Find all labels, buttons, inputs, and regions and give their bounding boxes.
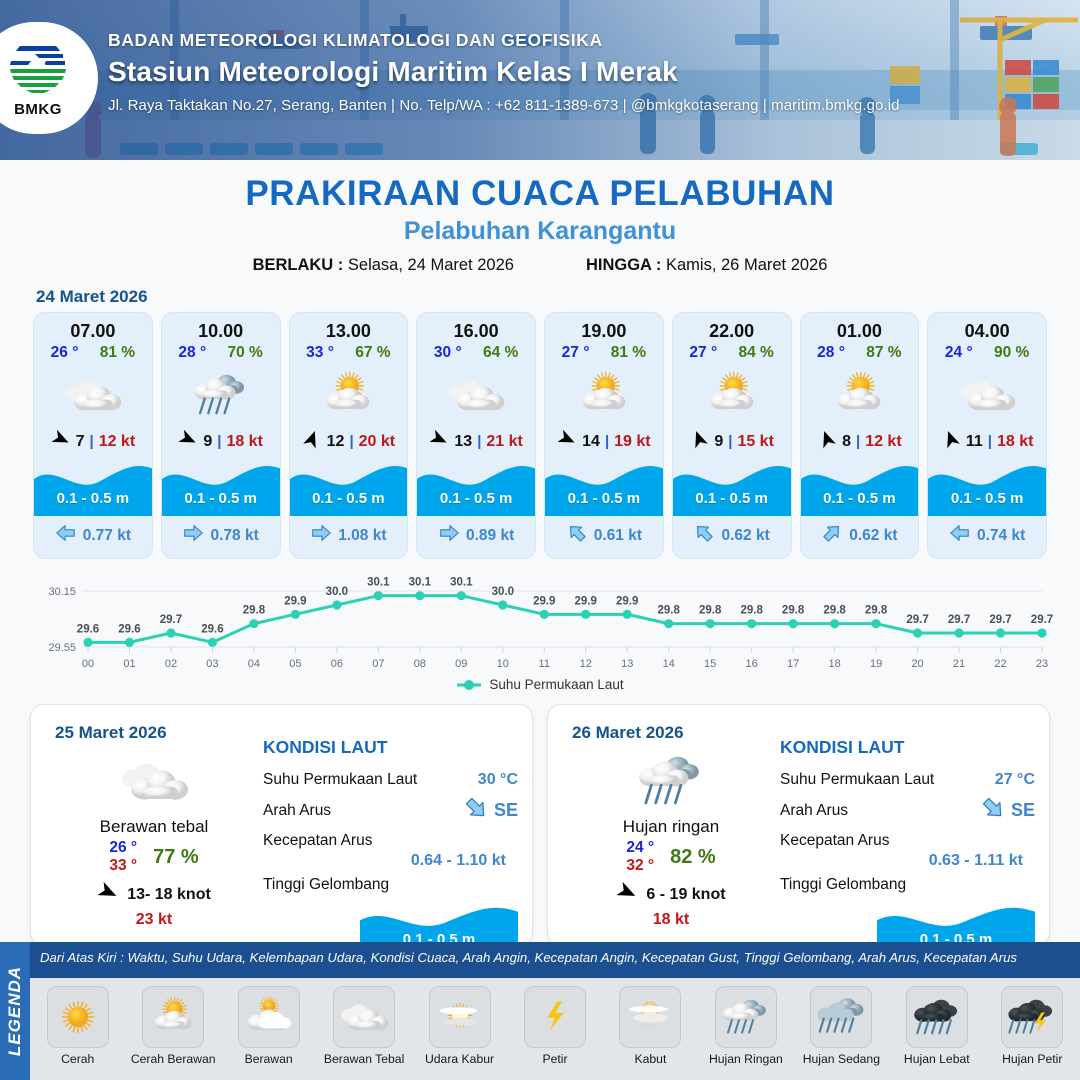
card-current-speed: 0.89 kt: [466, 527, 514, 545]
svg-text:29.9: 29.9: [533, 595, 555, 607]
forecast-card-row: 07.00 26 ° 81 % 7 | 12: [0, 312, 1080, 559]
card-wave-height: 0.1 - 0.5 m: [417, 490, 535, 507]
sst-row: Suhu Permukaan Laut 27 °C: [780, 765, 1035, 795]
udara-kabur-icon: [429, 986, 491, 1048]
card-gust: 12 kt: [99, 433, 135, 451]
panel-wind-speed: 6 - 19 knot: [646, 886, 725, 904]
svg-text:29.7: 29.7: [948, 614, 970, 626]
page-header: BMKG BADAN METEOROLOGI KLIMATOLOGI DAN G…: [0, 0, 1080, 160]
card-humidity: 64 %: [483, 344, 518, 362]
legend-item-label: Cerah Berawan: [130, 1052, 216, 1066]
chart-legend-label: Suhu Permukaan Laut: [489, 677, 623, 692]
svg-text:07: 07: [372, 658, 384, 670]
current-direction-text: SE: [494, 800, 518, 821]
current-direction-row: Arah Arus SE: [263, 795, 518, 826]
card-temp-humidity: 26 ° 81 %: [34, 343, 152, 364]
daily-summary-row: 25 Maret 2026 Berawan tebal 26 °: [0, 698, 1080, 946]
svg-text:29.8: 29.8: [740, 605, 763, 617]
card-current-speed: 0.78 kt: [210, 527, 258, 545]
panel-temp-min: 24 °: [626, 839, 654, 857]
wind-separator: |: [89, 433, 93, 450]
card-time: 19.00: [545, 313, 663, 343]
validity-row: BERLAKU : Selasa, 24 Maret 2026 HINGGA :…: [0, 256, 1080, 275]
card-current-row: 0.62 kt: [801, 516, 919, 558]
wave-height-label: Tinggi Gelombang: [780, 876, 906, 894]
panel-wind-row: 13- 18 knot: [49, 881, 259, 908]
wind-direction-arrow-icon: [178, 429, 198, 454]
legend-item: Hujan Lebat: [894, 986, 980, 1066]
card-temp-humidity: 33 ° 67 %: [290, 343, 408, 364]
panel-left-block: Berawan tebal 26 ° 33 ° 77 % 13- 18 knot…: [49, 749, 259, 929]
current-direction-value: SE: [463, 795, 518, 826]
current-direction-arrow-icon: [566, 522, 588, 549]
card-gust: 21 kt: [486, 433, 522, 451]
legend-item: Udara Kabur: [417, 986, 503, 1066]
current-direction-arrow-icon: [438, 522, 460, 549]
card-current-row: 0.62 kt: [673, 516, 791, 558]
current-speed-value: 0.64 - 1.10 kt: [263, 852, 506, 870]
forecast-card: 13.00 33 ° 67 % 12 | 20 kt: [289, 312, 409, 559]
legend-item: Cerah Berawan: [130, 986, 216, 1066]
berawan-tebal-icon: [333, 986, 395, 1048]
legend-item: Berawan: [226, 986, 312, 1066]
legend-item-label: Hujan Ringan: [703, 1052, 789, 1066]
card-wind-row: 13 | 21 kt: [417, 426, 535, 460]
svg-text:30.1: 30.1: [367, 577, 390, 589]
valid-from: BERLAKU : Selasa, 24 Maret 2026: [253, 256, 514, 275]
card-wave: 0.1 - 0.5 m: [417, 460, 535, 516]
card-gust: 12 kt: [865, 433, 901, 451]
forecast-date-label: 24 Maret 2026: [36, 287, 1080, 307]
wind-separator: |: [856, 433, 860, 450]
legend-note: Dari Atas Kiri : Waktu, Suhu Udara, Kele…: [40, 950, 1072, 965]
svg-text:29.7: 29.7: [1031, 614, 1053, 626]
svg-text:05: 05: [289, 658, 301, 670]
svg-text:30.15: 30.15: [48, 586, 76, 598]
svg-text:06: 06: [331, 658, 343, 670]
panel-temp-humidity: 24 ° 32 ° 82 %: [566, 839, 776, 875]
valid-until-value: Kamis, 26 Maret 2026: [666, 256, 827, 274]
card-wave: 0.1 - 0.5 m: [162, 460, 280, 516]
current-direction-row: Arah Arus SE: [780, 795, 1035, 826]
card-wave: 0.1 - 0.5 m: [34, 460, 152, 516]
svg-text:29.55: 29.55: [48, 642, 76, 654]
berawan-tebal-icon: [928, 364, 1046, 426]
card-gust: 19 kt: [614, 433, 650, 451]
legend-footer: LEGENDA Dari Atas Kiri : Waktu, Suhu Uda…: [0, 942, 1080, 1080]
panel-gust: 18 kt: [566, 911, 776, 929]
card-wind-row: 11 | 18 kt: [928, 426, 1046, 460]
sea-condition-title: KONDISI LAUT: [263, 737, 518, 758]
current-direction-arrow-icon: [182, 522, 204, 549]
card-current-row: 1.08 kt: [290, 516, 408, 558]
card-current-row: 0.78 kt: [162, 516, 280, 558]
card-time: 22.00: [673, 313, 791, 343]
forecast-card: 22.00 27 ° 84 % 9 | 15 kt: [672, 312, 792, 559]
kabut-icon: [619, 986, 681, 1048]
panel-date: 26 Maret 2026: [572, 723, 684, 743]
card-temperature: 33 °: [306, 344, 334, 362]
svg-text:29.9: 29.9: [575, 595, 597, 607]
wind-direction-arrow-icon: [429, 429, 449, 454]
card-wave: 0.1 - 0.5 m: [673, 460, 791, 516]
daily-summary-panel: 25 Maret 2026 Berawan tebal 26 °: [30, 704, 533, 946]
current-direction-label: Arah Arus: [780, 802, 848, 820]
sst-label: Suhu Permukaan Laut: [263, 771, 417, 789]
panel-condition: Hujan ringan: [566, 817, 776, 837]
svg-text:16: 16: [746, 658, 758, 670]
svg-text:30.0: 30.0: [492, 586, 514, 598]
panel-temp-column: 24 ° 32 °: [626, 839, 654, 875]
forecast-card: 10.00 28 ° 70 % 9 | 18: [161, 312, 281, 559]
legend-item-label: Udara Kabur: [417, 1052, 503, 1066]
card-gust: 18 kt: [997, 433, 1033, 451]
card-temp-humidity: 28 ° 87 %: [801, 343, 919, 364]
card-humidity: 90 %: [994, 344, 1029, 362]
sst-row: Suhu Permukaan Laut 30 °C: [263, 765, 518, 795]
svg-text:17: 17: [787, 658, 799, 670]
hujan-ringan-icon: [715, 986, 777, 1048]
card-temperature: 28 °: [178, 344, 206, 362]
svg-text:15: 15: [704, 658, 716, 670]
cerah-berawan-icon: [290, 364, 408, 426]
panel-temp-column: 26 ° 33 °: [109, 839, 137, 875]
svg-text:29.8: 29.8: [699, 605, 722, 617]
card-wave: 0.1 - 0.5 m: [545, 460, 663, 516]
card-humidity: 67 %: [355, 344, 390, 362]
card-wind-row: 9 | 18 kt: [162, 426, 280, 460]
card-current-row: 0.74 kt: [928, 516, 1046, 558]
sst-chart-svg: 29.5530.15000102030405060708091011121314…: [26, 573, 1054, 673]
card-wind-speed: 12: [327, 433, 345, 451]
svg-text:29.8: 29.8: [865, 605, 888, 617]
current-speed-label: Kecepatan Arus: [780, 832, 889, 850]
forecast-card: 07.00 26 ° 81 % 7 | 12: [33, 312, 153, 559]
current-direction-value: SE: [980, 795, 1035, 826]
card-time: 13.00: [290, 313, 408, 343]
current-direction-arrow-icon: [821, 522, 843, 549]
panel-temp-max: 33 °: [109, 857, 137, 875]
legend-item: Kabut: [607, 986, 693, 1066]
card-temp-humidity: 28 ° 70 %: [162, 343, 280, 364]
card-wave-height: 0.1 - 0.5 m: [673, 490, 791, 507]
panel-sea-block: KONDISI LAUT Suhu Permukaan Laut 30 °C A…: [263, 737, 518, 956]
card-temp-humidity: 30 ° 64 %: [417, 343, 535, 364]
card-current-row: 0.77 kt: [34, 516, 152, 558]
hujan-ringan-icon: [566, 749, 776, 813]
card-temperature: 27 °: [562, 344, 590, 362]
svg-text:18: 18: [828, 658, 840, 670]
current-direction-label: Arah Arus: [263, 802, 331, 820]
card-wind-speed: 14: [582, 433, 600, 451]
card-wave-height: 0.1 - 0.5 m: [34, 490, 152, 507]
wind-direction-arrow-icon: [689, 429, 709, 454]
legend-item: Cerah: [35, 986, 121, 1066]
panel-wind-row: 6 - 19 knot: [566, 881, 776, 908]
legend-item-label: Cerah: [35, 1052, 121, 1066]
current-direction-arrow-icon: [980, 795, 1006, 826]
card-wind-row: 14 | 19 kt: [545, 426, 663, 460]
panel-temp-max: 32 °: [626, 857, 654, 875]
card-current-speed: 0.62 kt: [721, 527, 769, 545]
hujan-ringan-icon: [162, 364, 280, 426]
legend-item: Hujan Petir: [989, 986, 1075, 1066]
wind-separator: |: [605, 433, 609, 450]
svg-text:29.7: 29.7: [989, 614, 1011, 626]
card-gust: 18 kt: [226, 433, 262, 451]
card-time: 16.00: [417, 313, 535, 343]
valid-until-label: HINGGA :: [586, 256, 661, 274]
legend-item-label: Hujan Sedang: [798, 1052, 884, 1066]
legend-icon-strip: Cerah Cerah Berawan: [30, 978, 1080, 1080]
card-temperature: 24 °: [945, 344, 973, 362]
panel-condition: Berawan tebal: [49, 817, 259, 837]
wind-direction-arrow-icon: [616, 881, 638, 908]
card-wind-speed: 8: [842, 433, 851, 451]
card-current-speed: 0.74 kt: [977, 527, 1025, 545]
svg-text:04: 04: [248, 658, 260, 670]
svg-text:14: 14: [663, 658, 675, 670]
cerah-berawan-icon: [545, 364, 663, 426]
card-wave: 0.1 - 0.5 m: [928, 460, 1046, 516]
svg-text:30.1: 30.1: [450, 577, 473, 589]
card-temp-humidity: 24 ° 90 %: [928, 343, 1046, 364]
legend-item-label: Berawan Tebal: [321, 1052, 407, 1066]
card-wind-speed: 9: [714, 433, 723, 451]
current-direction-arrow-icon: [693, 522, 715, 549]
page-subtitle: Pelabuhan Karangantu: [0, 217, 1080, 246]
card-temperature: 30 °: [434, 344, 462, 362]
forecast-card: 04.00 24 ° 90 % 11 | 1: [927, 312, 1047, 559]
wind-separator: |: [728, 433, 732, 450]
card-humidity: 70 %: [227, 344, 262, 362]
legend-item-label: Hujan Petir: [989, 1052, 1075, 1066]
svg-text:08: 08: [414, 658, 426, 670]
agency-name: BADAN METEOROLOGI KLIMATOLOGI DAN GEOFIS…: [108, 30, 900, 51]
berawan-icon: [238, 986, 300, 1048]
legend-side-label: LEGENDA: [5, 966, 25, 1056]
card-wave: 0.1 - 0.5 m: [801, 460, 919, 516]
card-current-row: 0.61 kt: [545, 516, 663, 558]
hujan-lebat-icon: [906, 986, 968, 1048]
wind-direction-arrow-icon: [302, 429, 322, 454]
svg-text:29.8: 29.8: [823, 605, 846, 617]
svg-text:20: 20: [911, 658, 923, 670]
wind-direction-arrow-icon: [817, 429, 837, 454]
berawan-tebal-icon: [417, 364, 535, 426]
station-name: Stasiun Meteorologi Maritim Kelas I Mera…: [108, 56, 900, 88]
valid-from-value: Selasa, 24 Maret 2026: [348, 256, 514, 274]
card-wave-height: 0.1 - 0.5 m: [290, 490, 408, 507]
current-direction-arrow-icon: [463, 795, 489, 826]
svg-text:03: 03: [206, 658, 218, 670]
card-wave: 0.1 - 0.5 m: [290, 460, 408, 516]
legend-item: Berawan Tebal: [321, 986, 407, 1066]
panel-temp-min: 26 °: [109, 839, 137, 857]
cerah-berawan-icon: [142, 986, 204, 1048]
svg-text:21: 21: [953, 658, 965, 670]
card-wave-height: 0.1 - 0.5 m: [928, 490, 1046, 507]
card-gust: 15 kt: [737, 433, 773, 451]
card-wind-row: 7 | 12 kt: [34, 426, 152, 460]
panel-wind-speed: 13- 18 knot: [127, 886, 211, 904]
svg-text:29.7: 29.7: [160, 614, 182, 626]
wind-separator: |: [988, 433, 992, 450]
contact-line: Jl. Raya Taktakan No.27, Serang, Banten …: [108, 97, 900, 114]
svg-text:12: 12: [580, 658, 592, 670]
card-humidity: 81 %: [100, 344, 135, 362]
wind-separator: |: [477, 433, 481, 450]
forecast-card: 16.00 30 ° 64 % 13 | 2: [416, 312, 536, 559]
card-temperature: 27 °: [689, 344, 717, 362]
svg-text:29.9: 29.9: [616, 595, 638, 607]
wind-separator: |: [349, 433, 353, 450]
chart-legend-marker-icon: [456, 679, 482, 691]
card-wind-speed: 13: [454, 433, 472, 451]
card-current-speed: 0.77 kt: [83, 527, 131, 545]
forecast-card: 01.00 28 ° 87 % 8 | 12 kt: [800, 312, 920, 559]
card-wave-height: 0.1 - 0.5 m: [545, 490, 663, 507]
card-temp-humidity: 27 ° 81 %: [545, 343, 663, 364]
card-temperature: 26 °: [51, 344, 79, 362]
card-humidity: 84 %: [738, 344, 773, 362]
cerah-icon: [47, 986, 109, 1048]
berawan-tebal-icon: [34, 364, 152, 426]
panel-gust: 23 kt: [49, 911, 259, 929]
current-speed-label: Kecepatan Arus: [263, 832, 372, 850]
wave-height-row: Tinggi Gelombang: [263, 870, 518, 900]
card-wind-speed: 7: [76, 433, 85, 451]
card-wind-speed: 11: [966, 433, 983, 451]
sst-chart: 29.5530.15000102030405060708091011121314…: [26, 573, 1054, 673]
panel-sea-block: KONDISI LAUT Suhu Permukaan Laut 27 °C A…: [780, 737, 1035, 956]
sea-condition-title: KONDISI LAUT: [780, 737, 1035, 758]
card-humidity: 81 %: [611, 344, 646, 362]
panel-humidity: 82 %: [670, 846, 716, 869]
header-text-block: BADAN METEOROLOGI KLIMATOLOGI DAN GEOFIS…: [108, 30, 900, 114]
card-wind-speed: 9: [203, 433, 212, 451]
panel-left-block: Hujan ringan 24 ° 32 ° 82 % 6 - 19 knot …: [566, 749, 776, 929]
panel-humidity: 77 %: [153, 846, 199, 869]
wind-direction-arrow-icon: [557, 429, 577, 454]
wind-direction-arrow-icon: [51, 429, 71, 454]
hujan-petir-icon: [1001, 986, 1063, 1048]
legend-side-tab: LEGENDA: [0, 942, 30, 1080]
card-wave-height: 0.1 - 0.5 m: [801, 490, 919, 507]
wind-direction-arrow-icon: [97, 881, 119, 908]
legend-item-label: Hujan Lebat: [894, 1052, 980, 1066]
card-time: 10.00: [162, 313, 280, 343]
sst-label: Suhu Permukaan Laut: [780, 771, 934, 789]
card-temp-humidity: 27 ° 84 %: [673, 343, 791, 364]
svg-text:29.6: 29.6: [118, 623, 140, 635]
daily-summary-panel: 26 Maret 2026 Hujan ringan 24 °: [547, 704, 1050, 946]
wind-separator: |: [217, 433, 221, 450]
svg-text:29.8: 29.8: [243, 605, 266, 617]
panel-date: 25 Maret 2026: [55, 723, 167, 743]
petir-icon: [524, 986, 586, 1048]
svg-text:29.9: 29.9: [284, 595, 306, 607]
card-time: 07.00: [34, 313, 152, 343]
legend-item: Petir: [512, 986, 598, 1066]
legend-item: Hujan Ringan: [703, 986, 789, 1066]
card-wind-row: 12 | 20 kt: [290, 426, 408, 460]
current-direction-text: SE: [1011, 800, 1035, 821]
wave-height-row: Tinggi Gelombang: [780, 870, 1035, 900]
panel-temp-humidity: 26 ° 33 ° 77 %: [49, 839, 259, 875]
valid-until: HINGGA : Kamis, 26 Maret 2026: [586, 256, 827, 275]
card-current-speed: 0.61 kt: [594, 527, 642, 545]
svg-text:29.8: 29.8: [658, 605, 681, 617]
title-block: PRAKIRAAN CUACA PELABUHAN Pelabuhan Kara…: [0, 174, 1080, 275]
legend-item: Hujan Sedang: [798, 986, 884, 1066]
legend-item-label: Petir: [512, 1052, 598, 1066]
forecast-card: 19.00 27 ° 81 % 14 | 19 kt: [544, 312, 664, 559]
svg-text:10: 10: [497, 658, 509, 670]
svg-text:23: 23: [1036, 658, 1048, 670]
chart-legend: Suhu Permukaan Laut: [0, 677, 1080, 692]
card-temperature: 28 °: [817, 344, 845, 362]
card-wind-row: 9 | 15 kt: [673, 426, 791, 460]
wave-height-label: Tinggi Gelombang: [263, 876, 389, 894]
svg-text:29.6: 29.6: [201, 623, 223, 635]
current-direction-arrow-icon: [55, 522, 77, 549]
current-direction-arrow-icon: [949, 522, 971, 549]
svg-text:29.8: 29.8: [782, 605, 805, 617]
card-current-row: 0.89 kt: [417, 516, 535, 558]
card-current-speed: 0.62 kt: [849, 527, 897, 545]
card-time: 01.00: [801, 313, 919, 343]
svg-text:00: 00: [82, 658, 94, 670]
hujan-sedang-icon: [810, 986, 872, 1048]
svg-text:30.0: 30.0: [326, 586, 348, 598]
cerah-berawan-icon: [673, 364, 791, 426]
card-humidity: 87 %: [866, 344, 901, 362]
svg-text:29.6: 29.6: [77, 623, 99, 635]
sst-value: 30 °C: [478, 771, 518, 789]
berawan-tebal-icon: [49, 749, 259, 813]
card-gust: 20 kt: [359, 433, 395, 451]
svg-text:29.7: 29.7: [906, 614, 928, 626]
logo-label: BMKG: [14, 101, 62, 118]
legend-item-label: Kabut: [607, 1052, 693, 1066]
sst-value: 27 °C: [995, 771, 1035, 789]
valid-from-label: BERLAKU :: [253, 256, 344, 274]
wind-direction-arrow-icon: [941, 429, 961, 454]
current-direction-arrow-icon: [310, 522, 332, 549]
current-speed-value: 0.63 - 1.11 kt: [780, 852, 1023, 870]
svg-text:13: 13: [621, 658, 633, 670]
svg-text:01: 01: [123, 658, 135, 670]
card-current-speed: 1.08 kt: [338, 527, 386, 545]
cerah-berawan-icon: [801, 364, 919, 426]
card-time: 04.00: [928, 313, 1046, 343]
svg-text:19: 19: [870, 658, 882, 670]
svg-text:02: 02: [165, 658, 177, 670]
svg-text:30.1: 30.1: [409, 577, 432, 589]
svg-text:09: 09: [455, 658, 467, 670]
page-title: PRAKIRAAN CUACA PELABUHAN: [0, 174, 1080, 214]
svg-text:11: 11: [539, 658, 550, 670]
svg-text:22: 22: [994, 658, 1006, 670]
card-wind-row: 8 | 12 kt: [801, 426, 919, 460]
bmkg-emblem-icon: [6, 38, 70, 100]
card-wave-height: 0.1 - 0.5 m: [162, 490, 280, 507]
legend-item-label: Berawan: [226, 1052, 312, 1066]
